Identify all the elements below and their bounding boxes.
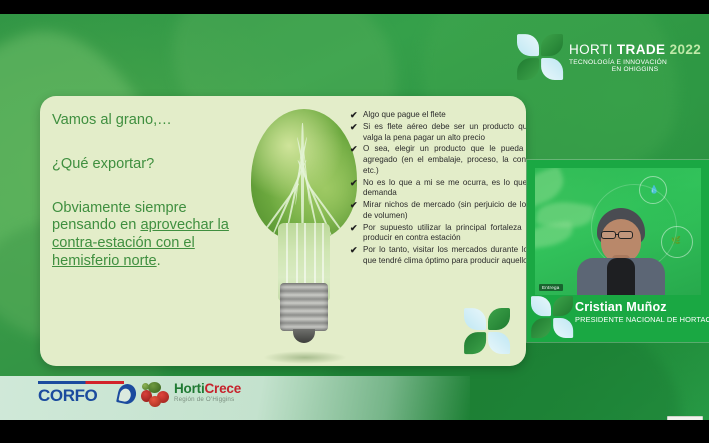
slide-bullet-item: ✔No es lo que a mi se me ocurra, es lo q… [350,178,526,200]
cabbage-leaves [251,109,357,241]
slide-left-column: Vamos al grano,… ¿Qué exportar? Obviamen… [52,112,230,271]
check-icon: ✔ [350,223,358,235]
slide-heading-1: Vamos al grano,… [52,112,230,130]
event-logo-text: HORTI TRADE 2022 TECNOLOGÍA E INNOVACIÓN… [569,42,701,73]
horticrece-name-part1: Horti [174,381,205,396]
corfo-logo: CORFO [38,381,138,409]
slide-bullet-item: ✔Mirar nichos de mercado (sin perjuicio … [350,200,526,222]
check-icon: ✔ [350,200,358,212]
check-icon: ✔ [350,110,358,122]
corfo-swoosh-icon [116,382,138,405]
slide-bullet-text: O sea, elegir un producto que le pueda p… [363,144,526,175]
speaker-nameplate: Cristian Muñoz PRESIDENTE NACIONAL DE HO… [527,295,709,342]
horticrece-name-part2: Crece [205,381,242,396]
horti-trade-quatrefoil-icon [517,34,563,80]
sponsor-strip: CORFO HortiCrece Región de O'Higgins [0,376,470,420]
slide-quatrefoil-icon [464,308,510,354]
speaker-video-tile[interactable]: 💧 🌿 Entrega [527,160,709,342]
slide-bullet-text: Algo que pague el flete [363,110,446,119]
slide-bullet-item: ✔Por supuesto utilizar la principal fort… [350,223,526,245]
nameplate-quatrefoil-icon [531,296,573,338]
event-subtitle-line2: EN OHIGGINS [569,66,701,73]
speaker-name: Cristian Muñoz [575,300,709,314]
video-stage: HORTI TRADE 2022 TECNOLOGÍA E INNOVACIÓN… [0,0,709,443]
slide-bullet-item: ✔Algo que pague el flete [350,110,526,121]
check-icon: ✔ [350,122,358,134]
check-icon: ✔ [350,144,358,156]
check-icon: ✔ [350,178,358,190]
slide-bullet-text: Por lo tanto, visitar los mercados duran… [363,245,526,265]
vegetables-icon [140,382,170,408]
speaker-figure [575,208,667,295]
slide-bullet-text: Si es flete aéreo debe ser un producto q… [363,122,526,142]
webinar-canvas: HORTI TRADE 2022 TECNOLOGÍA E INNOVACIÓN… [0,14,709,420]
event-title-bold: TRADE [617,42,670,57]
event-subtitle-line1: TECNOLOGÍA E INNOVACIÓN [569,59,701,66]
bulb-screw-base [280,283,328,331]
horticrece-subtitle: Región de O'Higgins [174,396,241,403]
slide-bullet-text: No es lo que a mi se me ocurra, es lo qu… [363,178,526,198]
event-title-year: 2022 [670,42,702,57]
slide-bullet-text: Mirar nichos de mercado (sin perjuicio d… [363,200,526,220]
event-title-main: HORTI [569,42,617,57]
bulb-contact-tip [293,329,315,343]
slide-paragraph-end: . [157,253,161,269]
horticrece-watermark: HortiCrece Región de O'Higgins [667,416,703,420]
slide-bullet-item: ✔O sea, elegir un producto que le pueda … [350,144,526,176]
bulb-shadow [263,351,347,364]
camera-label: Entrega [539,284,563,291]
cabbage-lightbulb-illustration [245,101,363,363]
slide-heading-2: ¿Qué exportar? [52,156,230,174]
video-feed[interactable]: 💧 🌿 Entrega [535,168,701,295]
slide-bullet-text: Por supuesto utilizar la principal forta… [363,223,526,243]
horticrece-logo-text: HortiCrece Región de O'Higgins [174,381,241,403]
slide-bullet-list: ✔Algo que pague el flete✔Si es flete aér… [350,110,526,268]
slide-bullet-item: ✔Por lo tanto, visitar los mercados dura… [350,245,526,267]
speaker-role: PRESIDENTE NACIONAL DE HORTACH [575,315,709,324]
event-logo: HORTI TRADE 2022 TECNOLOGÍA E INNOVACIÓN… [517,26,701,88]
slide-paragraph: Obviamente siempre pensando en aprovecha… [52,200,230,271]
check-icon: ✔ [350,245,358,257]
horticrece-logo: HortiCrece Región de O'Higgins [140,379,270,411]
corfo-logo-text: CORFO [38,386,97,406]
presentation-slide: Vamos al grano,… ¿Qué exportar? Obviamen… [40,96,526,366]
slide-bullet-item: ✔Si es flete aéreo debe ser un producto … [350,122,526,144]
corfo-logo-bar [38,381,124,384]
